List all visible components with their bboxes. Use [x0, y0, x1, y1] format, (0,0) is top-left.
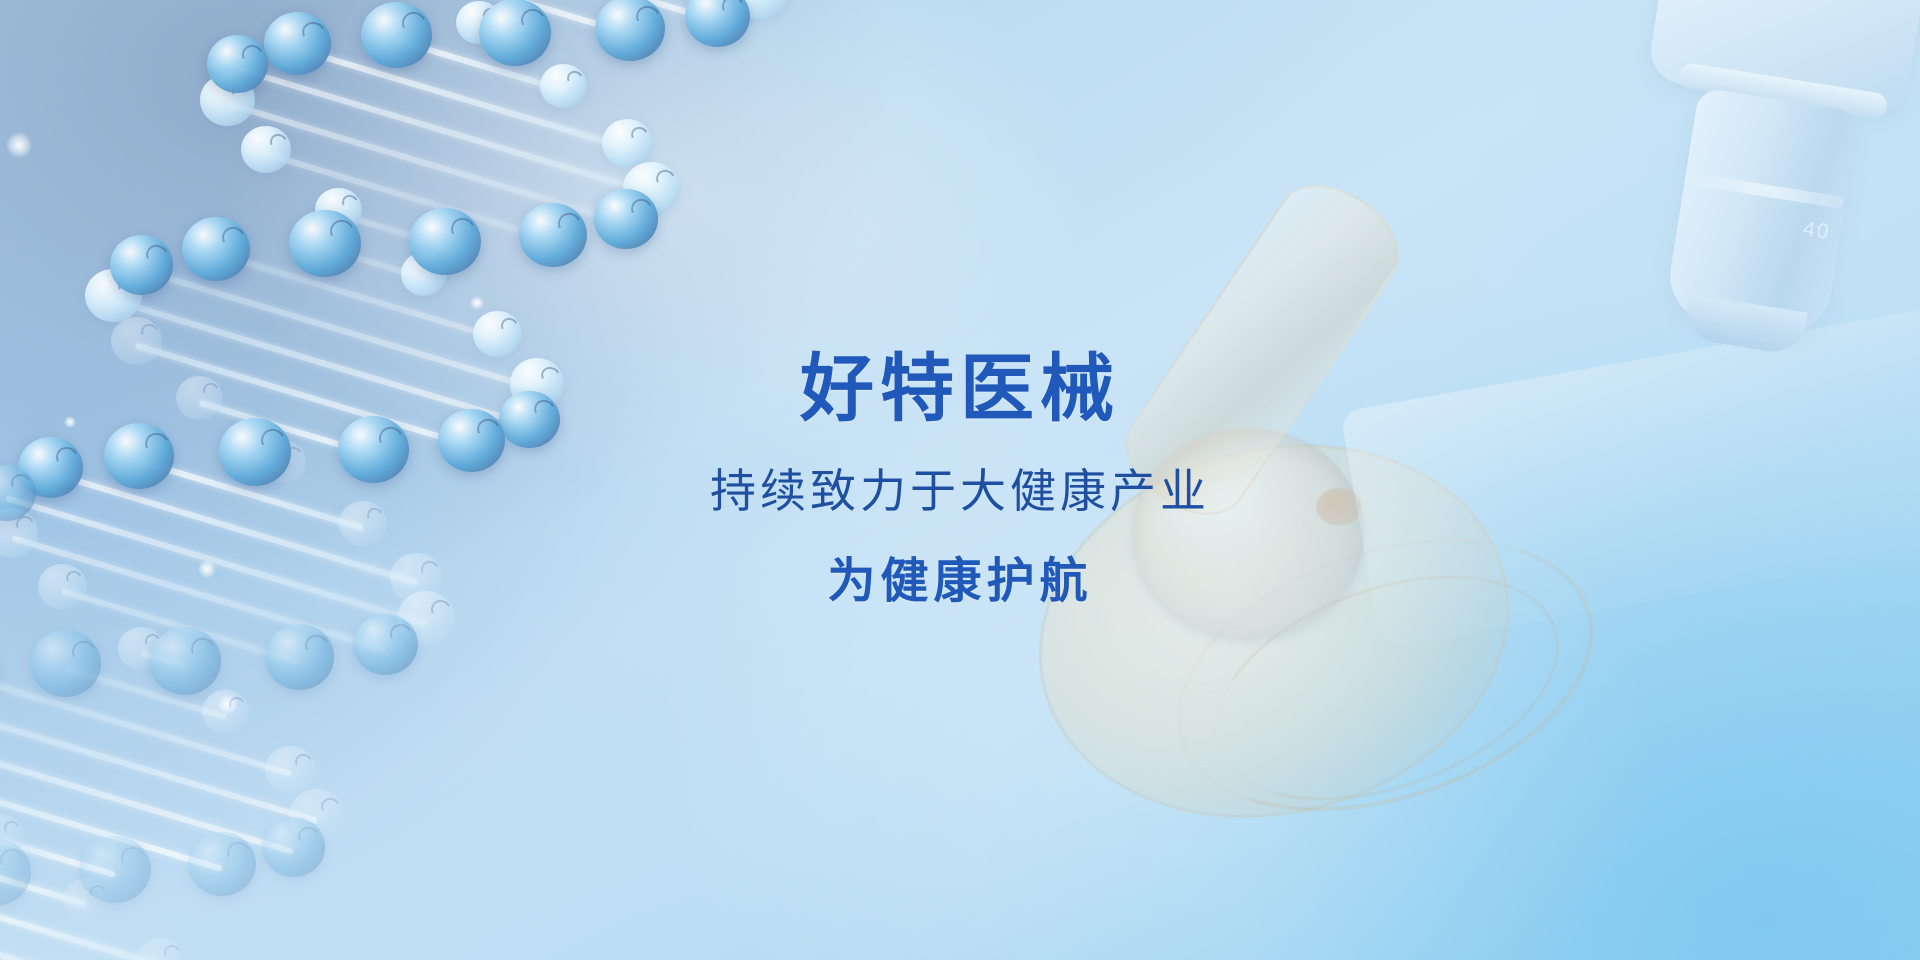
dna-base-bead: [136, 938, 185, 960]
dna-base-bead: [207, 35, 268, 93]
dna-rung: [237, 66, 653, 196]
dna-bead-notch: [565, 68, 585, 88]
dna-bead-notch: [240, 42, 266, 67]
dna-base-bead: [353, 614, 418, 675]
dna-base-bead: [110, 235, 173, 295]
dna-base-bead: [188, 832, 256, 896]
dna-bead-notch: [68, 637, 98, 667]
dna-base-bead: [149, 627, 221, 695]
dna-base-bead: [479, 0, 551, 66]
page-title: 好特医械: [0, 352, 1920, 426]
dna-base-bead: [361, 2, 432, 69]
dna-bead-notch: [299, 19, 328, 47]
dna-bead-notch: [144, 242, 171, 268]
dna-bead-notch: [653, 168, 677, 192]
dna-bead-notch: [499, 316, 520, 337]
dna-base-bead: [409, 208, 481, 275]
dna-base-bead: [265, 624, 335, 690]
dna-bead-notch: [399, 9, 429, 39]
dna-base-bead: [602, 119, 653, 167]
dna-bead-notch: [555, 210, 584, 239]
dna-base-bead: [262, 817, 325, 876]
dna-base-bead: [594, 189, 657, 248]
dna-bead-notch: [227, 695, 247, 715]
dna-base-bead: [264, 12, 331, 75]
microscope-magnification-label: 40: [1801, 217, 1832, 245]
dna-bead-notch: [224, 839, 253, 867]
dna-base-bead: [202, 690, 249, 734]
dna-bead-notch: [296, 824, 323, 850]
hero-banner: 40 好特医械 持续致力于大健康产业 为健康护航: [0, 0, 1920, 960]
dna-bead-notch: [293, 751, 315, 772]
dna-base-bead: [79, 836, 151, 903]
dna-base-bead: [473, 311, 522, 357]
dna-rung: [0, 729, 294, 855]
dna-bead-notch: [628, 196, 655, 222]
dna-bead-notch: [720, 0, 748, 20]
dna-bead-notch: [268, 131, 289, 152]
dna-bead-notch: [138, 322, 160, 343]
dna-bead-notch: [387, 621, 415, 648]
dna-base-bead: [519, 203, 587, 267]
dna-bead-notch: [219, 224, 248, 253]
hero-tagline: 持续致力于大健康产业: [0, 468, 1920, 514]
dna-base-bead: [289, 210, 361, 277]
dna-base-bead: [595, 0, 665, 61]
dna-base-bead: [265, 746, 316, 794]
dna-bead-notch: [633, 3, 663, 32]
dna-bead-notch: [162, 943, 183, 960]
dna-bead-notch: [629, 124, 651, 145]
dna-base-bead: [241, 126, 291, 173]
dna-bead-notch: [319, 795, 343, 819]
dna-base-bead: [182, 217, 251, 282]
hero-slogan: 为健康护航: [0, 558, 1920, 606]
dna-bead-notch: [340, 193, 360, 212]
bokeh-spark: [6, 132, 32, 158]
hero-text-block: 好特医械 持续致力于大健康产业 为健康护航: [0, 352, 1920, 606]
bokeh-spark: [470, 296, 484, 310]
dna-bead-notch: [2, 819, 22, 838]
dna-base-bead: [30, 630, 101, 697]
dna-base-bead: [540, 64, 587, 108]
